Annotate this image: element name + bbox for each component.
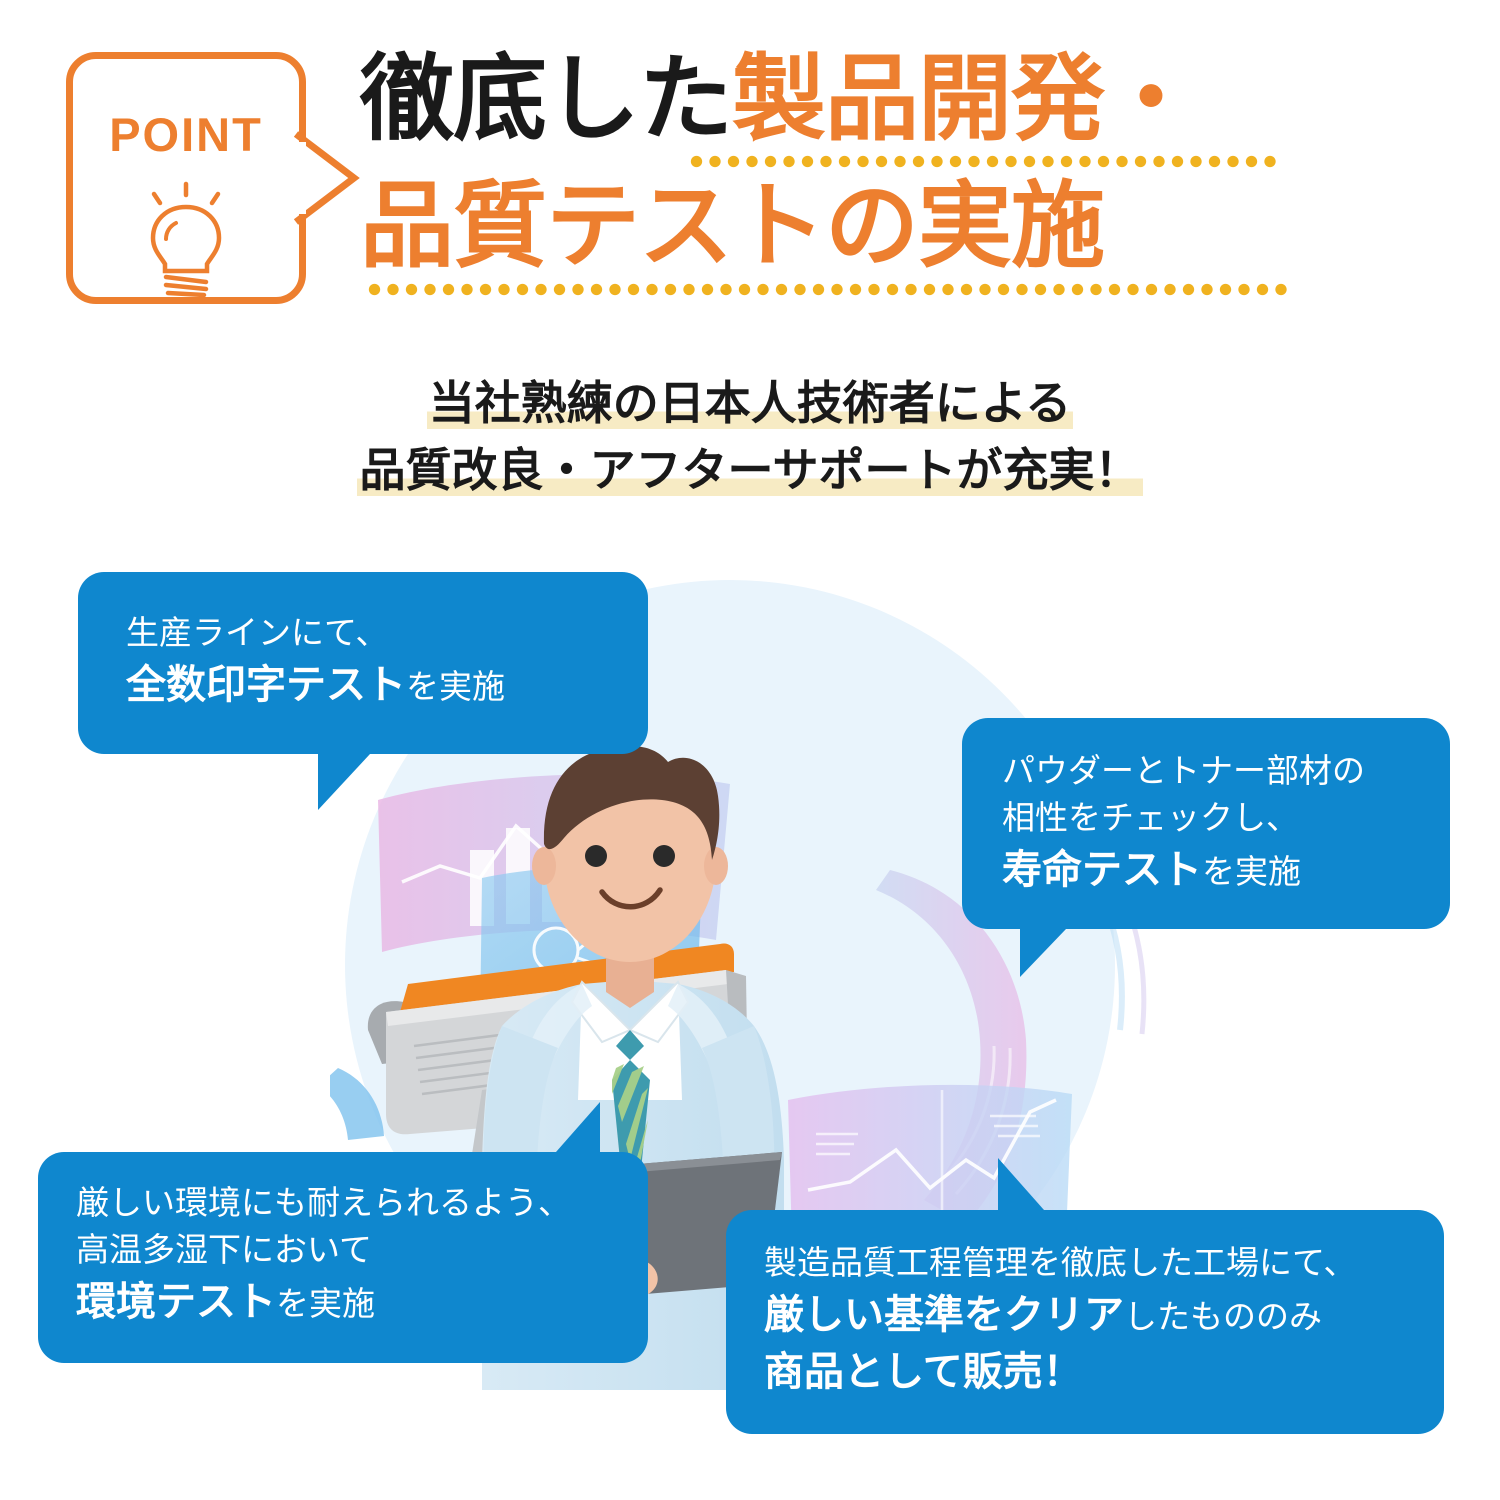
bubble-print-line-2: 全数印字テストを実施 xyxy=(126,657,648,714)
subtitle-line-2: 品質改良・アフターサポートが充実！ xyxy=(0,437,1500,504)
bubble-env-line-3-bold: 環境テスト xyxy=(76,1280,276,1324)
headline-dots-2 xyxy=(360,279,1360,301)
point-badge-label: POINT xyxy=(73,107,299,162)
bubble-life-tail xyxy=(1020,929,1066,977)
bubble-env-tail xyxy=(556,1102,600,1152)
bubble-sale-line-2-bold: 厳しい基準をクリア xyxy=(764,1293,1124,1337)
headline-line-1-orange: 製品開発・ xyxy=(732,46,1197,151)
bubble-sale-line-3-bold: 商品として販売！ xyxy=(764,1350,1083,1394)
bubble-print-line-1: 生産ラインにて、 xyxy=(126,610,648,657)
bubble-env-line-3-tail: を実施 xyxy=(276,1285,375,1322)
illustration-scene: 生産ラインにて、 全数印字テストを実施 パウダーとトナー部材の 相性をチェックし… xyxy=(0,540,1500,1500)
subtitle-line-1-text: 当社熟練の日本人技術者による xyxy=(427,377,1074,429)
bubble-sale-tail xyxy=(998,1158,1044,1210)
headline: 徹底した製品開発・ 品質テストの実施 xyxy=(360,46,1360,301)
headline-line-2: 品質テストの実施 xyxy=(360,173,1360,278)
headline-line-1-black: 徹底した xyxy=(360,46,732,151)
headline-dots-1 xyxy=(360,151,1360,173)
bubble-sale-line-2: 厳しい基準をクリアしたもののみ xyxy=(764,1287,1444,1344)
bubble-life-line-3-bold: 寿命テスト xyxy=(1002,848,1202,892)
subtitle-line-2-text: 品質改良・アフターサポートが充実！ xyxy=(357,444,1142,496)
bubble-print-line-2-tail: を実施 xyxy=(406,668,505,705)
speech-bubble-life-test: パウダーとトナー部材の 相性をチェックし、 寿命テストを実施 xyxy=(962,718,1450,929)
bubble-env-line-1: 厳しい環境にも耐えられるよう、 xyxy=(76,1180,648,1227)
bubble-life-line-3-tail: を実施 xyxy=(1202,853,1301,890)
speech-bubble-environment-test: 厳しい環境にも耐えられるよう、 高温多湿下において 環境テストを実施 xyxy=(38,1152,648,1363)
subtitle: 当社熟練の日本人技術者による 品質改良・アフターサポートが充実！ xyxy=(0,370,1500,503)
bubble-print-tail xyxy=(318,754,370,810)
bubble-print-line-2-bold: 全数印字テスト xyxy=(126,663,406,707)
eye-right xyxy=(653,845,675,867)
eye-left xyxy=(585,845,607,867)
infographic-canvas: POINT 徹底した製品開発・ 品質テストの実施 当社熟練の日本人技術者による … xyxy=(0,0,1500,1500)
bubble-env-line-3: 環境テストを実施 xyxy=(76,1274,648,1331)
speech-bubble-print-test: 生産ラインにて、 全数印字テストを実施 xyxy=(78,572,648,754)
lightbulb-icon xyxy=(130,181,242,299)
bubble-sale-line-1: 製造品質工程管理を徹底した工場にて、 xyxy=(764,1240,1444,1287)
point-badge-tail-icon xyxy=(292,128,364,228)
bubble-sale-line-2-tail: したもののみ xyxy=(1124,1298,1322,1335)
bubble-life-line-2: 相性をチェックし、 xyxy=(1002,795,1450,842)
subtitle-line-1: 当社熟練の日本人技術者による xyxy=(0,370,1500,437)
bubble-env-line-2: 高温多湿下において xyxy=(76,1227,648,1274)
headline-line-1: 徹底した製品開発・ xyxy=(360,46,1360,151)
point-badge: POINT xyxy=(66,52,306,304)
bubble-life-line-3: 寿命テストを実施 xyxy=(1002,842,1450,899)
speech-bubble-factory-sale: 製造品質工程管理を徹底した工場にて、 厳しい基準をクリアしたもののみ 商品として… xyxy=(726,1210,1444,1434)
bubble-life-line-1: パウダーとトナー部材の xyxy=(1002,748,1450,795)
bubble-sale-line-3: 商品として販売！ xyxy=(764,1344,1444,1401)
